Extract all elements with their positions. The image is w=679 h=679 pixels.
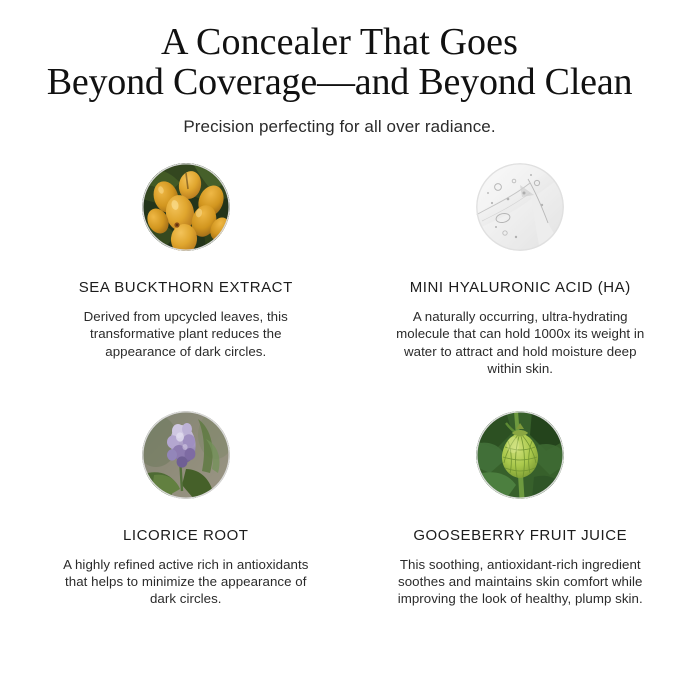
page-subtitle: Precision perfecting for all over radian…: [0, 116, 679, 138]
ingredient-title: GOOSEBERRY FRUIT JUICE: [413, 527, 627, 545]
ingredient-card-gooseberry: GOOSEBERRY FRUIT JUICE This soothing, an…: [340, 411, 679, 608]
headline-line-2: Beyond Coverage—and Beyond Clean: [0, 62, 679, 102]
ingredient-description: This soothing, antioxidant-rich ingredie…: [394, 556, 646, 608]
ingredient-title: MINI HYALURONIC ACID (HA): [410, 279, 631, 297]
ingredient-description: A highly refined active rich in antioxid…: [62, 556, 310, 608]
sea-buckthorn-berries-image: [142, 163, 230, 251]
ingredient-description: Derived from upcycled leaves, this trans…: [62, 308, 310, 360]
hyaluronic-acid-gel-image: [476, 163, 564, 251]
ingredient-benefits-page: A Concealer That Goes Beyond Coverage—an…: [0, 0, 679, 679]
page-title: A Concealer That Goes Beyond Coverage—an…: [0, 22, 679, 102]
ingredient-title: LICORICE ROOT: [123, 527, 249, 545]
ingredient-grid: SEA BUCKTHORN EXTRACT Derived from upcyc…: [0, 163, 679, 608]
gooseberry-husk-fruit-image: [476, 411, 564, 499]
ingredient-card-sea-buckthorn: SEA BUCKTHORN EXTRACT Derived from upcyc…: [0, 163, 340, 378]
ingredient-description: A naturally occurring, ultra-hydrating m…: [394, 308, 646, 378]
ingredient-title: SEA BUCKTHORN EXTRACT: [79, 279, 293, 297]
ingredient-card-licorice-root: LICORICE ROOT A highly refined active ri…: [0, 411, 340, 608]
headline-line-1: A Concealer That Goes: [0, 22, 679, 62]
licorice-root-flower-image: [142, 411, 230, 499]
header: A Concealer That Goes Beyond Coverage—an…: [0, 0, 679, 138]
ingredient-card-hyaluronic-acid: MINI HYALURONIC ACID (HA) A naturally oc…: [340, 163, 679, 378]
